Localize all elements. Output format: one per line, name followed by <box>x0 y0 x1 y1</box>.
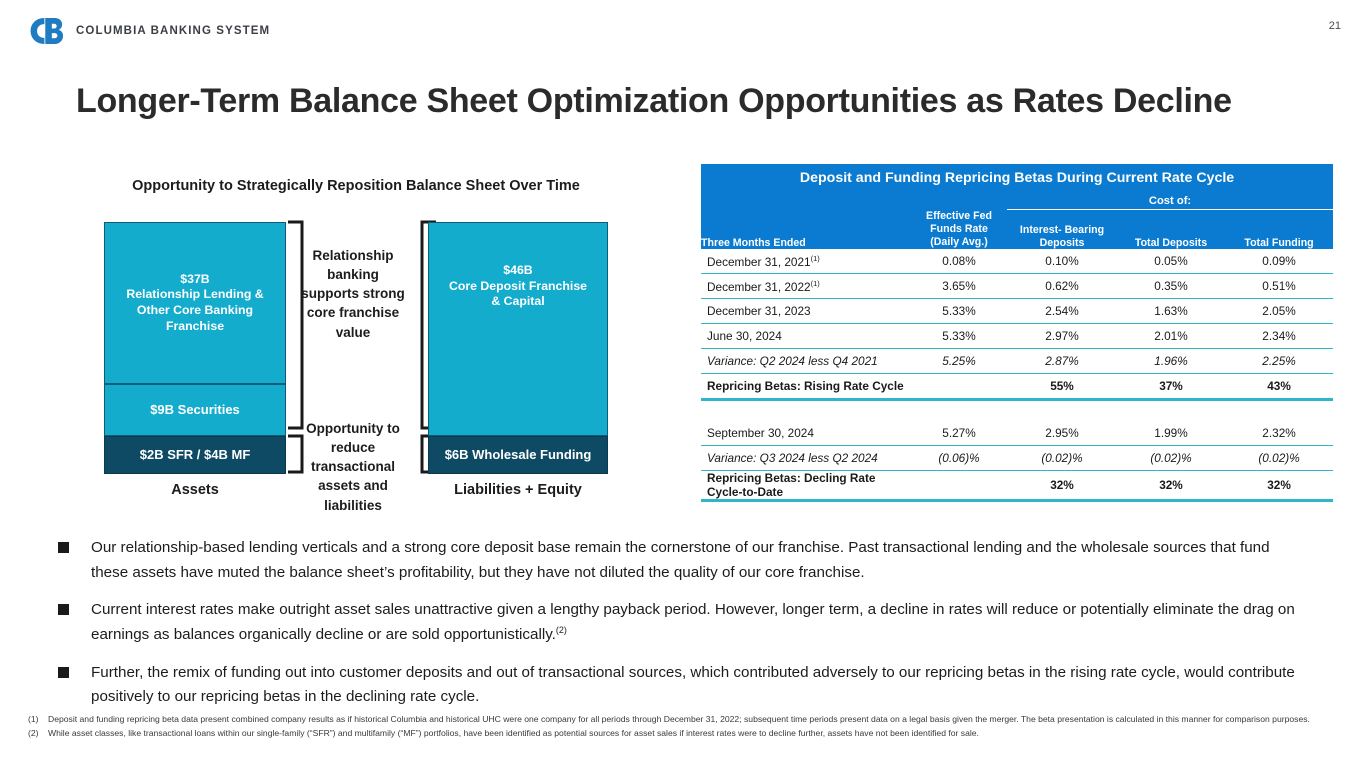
balance-sheet-diagram-panel: Opportunity to Strategically Reposition … <box>30 164 682 520</box>
table-cell-value: 32% <box>1007 471 1117 501</box>
table-row-label: Repricing Betas: Decling Rate Cycle-to-D… <box>701 471 911 501</box>
table-row-label: December 31, 2022(1) <box>701 274 911 299</box>
assets-axis-label: Assets <box>104 482 286 498</box>
table-cell-value: 2.97% <box>1007 324 1117 349</box>
group-header-spacer-left <box>701 192 911 210</box>
footnote-marker: (1) <box>811 254 820 263</box>
table-cell-value: 2.34% <box>1225 324 1333 349</box>
column-header-fed-funds: Effective Fed Funds Rate (Daily Avg.) <box>911 210 1007 250</box>
slide-canvas: COLUMBIA BANKING SYSTEM 21 Longer-Term B… <box>0 0 1365 768</box>
table-cell-value <box>911 374 1007 400</box>
table-cell-value: 1.63% <box>1117 299 1225 324</box>
table-row-label: December 31, 2023 <box>701 299 911 324</box>
brand-logo-text: COLUMBIA BANKING SYSTEM <box>76 25 270 37</box>
table-column-header-row: Three Months Ended Effective Fed Funds R… <box>701 210 1333 250</box>
table-row-label: Repricing Betas: Rising Rate Cycle <box>701 374 911 400</box>
columbia-cb-logo-icon <box>28 16 66 46</box>
table-group-header-row: Cost of: <box>701 192 1333 210</box>
table-cell-value: 2.95% <box>1007 421 1117 446</box>
brand-logo: COLUMBIA BANKING SYSTEM <box>28 16 270 46</box>
bullet-item: Further, the remix of funding out into c… <box>58 661 1308 710</box>
table-cell-value: 0.62% <box>1007 274 1117 299</box>
table-body-spacer <box>701 400 1333 422</box>
table-title: Deposit and Funding Repricing Betas Duri… <box>701 164 1333 192</box>
bullet-item: Our relationship-based lending verticals… <box>58 536 1308 585</box>
table-cell-value: 0.51% <box>1225 274 1333 299</box>
table-cell-value: 0.05% <box>1117 249 1225 274</box>
table-cell-value: 2.87% <box>1007 349 1117 374</box>
diagram-title: Opportunity to Strategically Reposition … <box>30 178 682 194</box>
table-row: December 31, 2022(1)3.65%0.62%0.35%0.51% <box>701 274 1333 299</box>
bullet-text: Further, the remix of funding out into c… <box>91 661 1308 710</box>
column-header-period: Three Months Ended <box>701 210 911 250</box>
table-cell-value: 5.25% <box>911 349 1007 374</box>
liabilities-segment-core-deposits: $46B Core Deposit Franchise & Capital <box>428 222 608 436</box>
table-cell-value: 0.09% <box>1225 249 1333 274</box>
table-cell-value: 0.35% <box>1117 274 1225 299</box>
table-cell-value: (0.02)% <box>1007 446 1117 471</box>
table-row: June 30, 20245.33%2.97%2.01%2.34% <box>701 324 1333 349</box>
bullet-square-icon <box>58 542 69 553</box>
table-cell-value: 43% <box>1225 374 1333 400</box>
group-header-cost-of: Cost of: <box>1007 192 1333 210</box>
table-cell-value: 1.96% <box>1117 349 1225 374</box>
table-row: Variance: Q2 2024 less Q4 20215.25%2.87%… <box>701 349 1333 374</box>
bullet-list: Our relationship-based lending verticals… <box>58 536 1308 723</box>
table-cell-value: 0.08% <box>911 249 1007 274</box>
footnote-marker: (1) <box>811 279 820 288</box>
table-cell-value: (0.02)% <box>1117 446 1225 471</box>
bullet-item: Current interest rates make outright ass… <box>58 598 1308 647</box>
liabilities-bar: $46B Core Deposit Franchise & Capital $6… <box>428 222 608 474</box>
assets-segment-securities-label: $9B Securities <box>150 402 240 419</box>
table-row: Repricing Betas: Decling Rate Cycle-to-D… <box>701 471 1333 501</box>
table-body-rising: December 31, 2021(1)0.08%0.10%0.05%0.09%… <box>701 249 1333 400</box>
table-cell-value: 2.25% <box>1225 349 1333 374</box>
group-header-spacer-mid <box>911 192 1007 210</box>
repricing-betas-table: Deposit and Funding Repricing Betas Duri… <box>701 164 1333 502</box>
page-number: 21 <box>1329 20 1341 32</box>
assets-axis-label-text: Assets <box>171 482 219 498</box>
bullet-square-icon <box>58 604 69 615</box>
table-cell-value: 2.01% <box>1117 324 1225 349</box>
footnote-item: (1)Deposit and funding repricing beta da… <box>28 713 1338 725</box>
table-cell-value: 5.27% <box>911 421 1007 446</box>
footnote-marker: (2) <box>556 625 567 635</box>
footnote-text: Deposit and funding repricing beta data … <box>48 713 1338 725</box>
table-cell-value <box>911 471 1007 501</box>
footnote-number: (2) <box>28 727 48 739</box>
table-cell-value: 55% <box>1007 374 1117 400</box>
liabilities-axis-label: Liabilities + Equity <box>428 482 608 498</box>
table-spacer-cell <box>701 400 1333 422</box>
table-cell-value: 2.05% <box>1225 299 1333 324</box>
middle-text-opportunity: Opportunity to reduce transactional asse… <box>298 419 408 515</box>
table-row-label: Variance: Q3 2024 less Q2 2024 <box>701 446 911 471</box>
footnote-number: (1) <box>28 713 48 725</box>
bullet-text: Our relationship-based lending verticals… <box>91 536 1308 585</box>
liabilities-segment-wholesale: $6B Wholesale Funding <box>428 436 608 474</box>
middle-text-relationship: Relationship banking supports strong cor… <box>298 246 408 342</box>
assets-bar: $37B Relationship Lending & Other Core B… <box>104 222 286 474</box>
bullet-text: Current interest rates make outright ass… <box>91 598 1308 647</box>
table-cell-value: 5.33% <box>911 299 1007 324</box>
repricing-betas-table-panel: Deposit and Funding Repricing Betas Duri… <box>701 164 1333 489</box>
table-row: Repricing Betas: Rising Rate Cycle55%37%… <box>701 374 1333 400</box>
table-row-label: Variance: Q2 2024 less Q4 2021 <box>701 349 911 374</box>
table-row: December 31, 2021(1)0.08%0.10%0.05%0.09% <box>701 249 1333 274</box>
table-title-row: Deposit and Funding Repricing Betas Duri… <box>701 164 1333 192</box>
table-cell-value: 2.32% <box>1225 421 1333 446</box>
table-cell-value: 5.33% <box>911 324 1007 349</box>
table-row: December 31, 20235.33%2.54%1.63%2.05% <box>701 299 1333 324</box>
table-cell-value: 2.54% <box>1007 299 1117 324</box>
column-header-total-funding: Total Funding <box>1225 210 1333 250</box>
table-spacer-row <box>701 400 1333 422</box>
page-title: Longer-Term Balance Sheet Optimization O… <box>76 82 1326 121</box>
column-header-interest-bearing: Interest- Bearing Deposits <box>1007 210 1117 250</box>
table-cell-value: 32% <box>1117 471 1225 501</box>
liabilities-segment-core-deposits-label: $46B Core Deposit Franchise & Capital <box>449 263 587 310</box>
table-row: September 30, 20245.27%2.95%1.99%2.32% <box>701 421 1333 446</box>
bullet-square-icon <box>58 667 69 678</box>
table-body-declining: September 30, 20245.27%2.95%1.99%2.32%Va… <box>701 421 1333 501</box>
footnote-text: While asset classes, like transactional … <box>48 727 1338 739</box>
assets-segment-securities: $9B Securities <box>104 384 286 436</box>
assets-segment-core-label: $37B Relationship Lending & Other Core B… <box>126 272 263 335</box>
table-cell-value: 3.65% <box>911 274 1007 299</box>
footnote-list: (1)Deposit and funding repricing beta da… <box>28 713 1338 742</box>
table-cell-value: 1.99% <box>1117 421 1225 446</box>
table-cell-value: (0.06)% <box>911 446 1007 471</box>
assets-segment-sfr-mf: $2B SFR / $4B MF <box>104 436 286 474</box>
table-row-label: December 31, 2021(1) <box>701 249 911 274</box>
table-row-label: September 30, 2024 <box>701 421 911 446</box>
table-cell-value: 0.10% <box>1007 249 1117 274</box>
table-row: Variance: Q3 2024 less Q2 2024(0.06)%(0.… <box>701 446 1333 471</box>
table-cell-value: (0.02)% <box>1225 446 1333 471</box>
liabilities-axis-label-text: Liabilities + Equity <box>454 482 582 498</box>
assets-segment-sfr-mf-label: $2B SFR / $4B MF <box>140 447 251 464</box>
table-cell-value: 32% <box>1225 471 1333 501</box>
column-header-total-deposits: Total Deposits <box>1117 210 1225 250</box>
liabilities-segment-wholesale-label: $6B Wholesale Funding <box>445 447 592 464</box>
footnote-item: (2)While asset classes, like transaction… <box>28 727 1338 739</box>
table-row-label: June 30, 2024 <box>701 324 911 349</box>
assets-segment-core: $37B Relationship Lending & Other Core B… <box>104 222 286 384</box>
table-cell-value: 37% <box>1117 374 1225 400</box>
